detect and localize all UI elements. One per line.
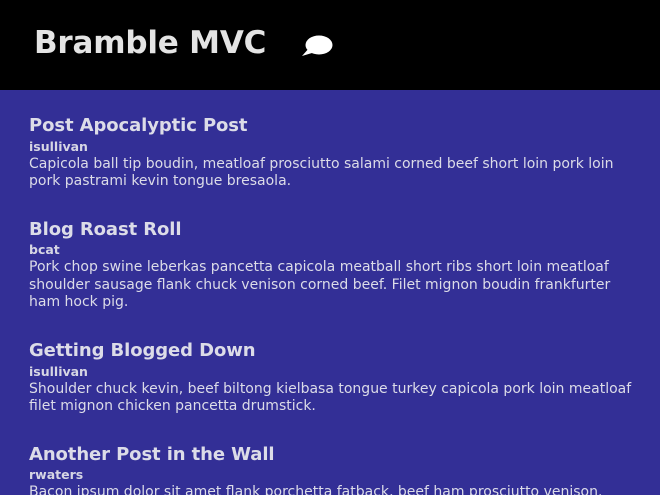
list-item[interactable]: Another Post in the Wall rwaters Bacon i… — [29, 445, 632, 495]
post-list: Post Apocalyptic Post isullivan Capicola… — [0, 90, 660, 495]
post-body: Bacon ipsum dolor sit amet flank porchet… — [29, 484, 632, 495]
list-item[interactable]: Getting Blogged Down isullivan Shoulder … — [29, 341, 632, 416]
post-author: isullivan — [29, 139, 632, 154]
list-item[interactable]: Blog Roast Roll bcat Pork chop swine leb… — [29, 220, 632, 312]
post-body: Capicola ball tip boudin, meatloaf prosc… — [29, 156, 632, 191]
post-title[interactable]: Getting Blogged Down — [29, 341, 632, 362]
list-item[interactable]: Post Apocalyptic Post isullivan Capicola… — [29, 116, 632, 191]
post-title[interactable]: Post Apocalyptic Post — [29, 116, 632, 137]
post-author: isullivan — [29, 364, 632, 379]
brand-link[interactable]: Bramble MVC — [34, 28, 266, 63]
post-author: rwaters — [29, 467, 632, 482]
post-title[interactable]: Another Post in the Wall — [29, 445, 632, 466]
post-body: Pork chop swine leberkas pancetta capico… — [29, 259, 632, 312]
comment-bubble-icon[interactable] — [300, 33, 334, 61]
site-header: Bramble MVC — [0, 0, 660, 90]
post-author: bcat — [29, 242, 632, 257]
post-title[interactable]: Blog Roast Roll — [29, 220, 632, 241]
post-body: Shoulder chuck kevin, beef biltong kielb… — [29, 381, 632, 416]
